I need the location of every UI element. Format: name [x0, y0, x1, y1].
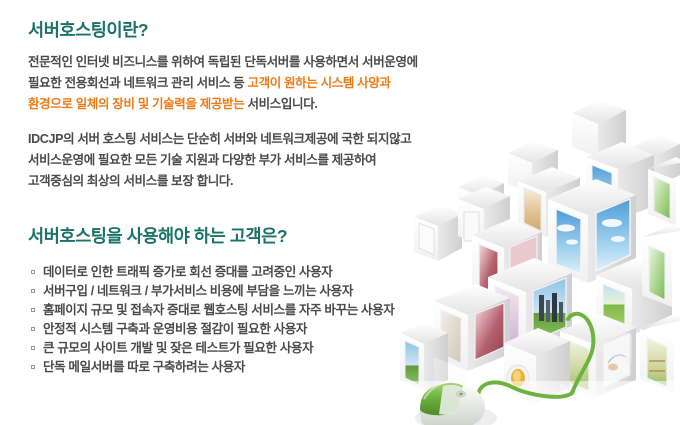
paragraph-line: 서비스운영에 필요한 모든 기술 지원과 다양한 부가 서비스를 제공하여: [28, 150, 411, 171]
paragraph-text: 서비스입니다.: [244, 97, 317, 111]
list-item: 서버구입 / 네트워크 / 부가서비스 비용에 부담을 느끼는 사용자: [30, 282, 394, 301]
paragraph-line: 전문적인 인터넷 비즈니스를 위하여 독립된 단독서버를 사용하면서 서버운영에: [28, 52, 418, 73]
target-customer-list: 데이터로 인한 트래픽 증가로 회선 증대를 고려중인 사용자 서버구입 / 네…: [30, 263, 394, 377]
square-bullet-icon: [31, 270, 35, 274]
square-bullet-icon: [31, 289, 35, 293]
list-item-label: 큰 규모의 사이트 개발 및 잦은 테스트가 필요한 사용자: [43, 341, 313, 355]
list-item-label: 서버구입 / 네트워크 / 부가서비스 비용에 부담을 느끼는 사용자: [43, 284, 353, 298]
paragraph-line: 고객중심의 최상의 서비스를 보장 합니다.: [28, 171, 411, 192]
list-item-label: 데이터로 인한 트래픽 증가로 회선 증대를 고려중인 사용자: [43, 265, 332, 279]
square-bullet-icon: [31, 346, 35, 350]
cube-wall-with-mouse-illustration: [400, 95, 680, 425]
page-root: 서버호스팅이란? 전문적인 인터넷 비즈니스를 위하여 독립된 단독서버를 사용…: [0, 0, 680, 425]
list-item: 홈페이지 규모 및 접속자 증대로 웹호스팅 서비스를 자주 바꾸는 사용자: [30, 301, 394, 320]
square-bullet-icon: [31, 327, 35, 331]
list-item-label: 홈페이지 규모 및 접속자 증대로 웹호스팅 서비스를 자주 바꾸는 사용자: [43, 303, 394, 317]
page-title-target-customers: 서버호스팅을 사용해야 하는 고객은?: [28, 226, 287, 247]
square-bullet-icon: [31, 365, 35, 369]
highlight-text: 고객이 원하는 시스템 사양과: [247, 76, 390, 90]
list-item-label: 단독 메일서버를 따로 구축하려는 사용자: [43, 360, 245, 374]
list-item-label: 안정적 시스템 구축과 운영비용 절감이 필요한 사용자: [43, 322, 307, 336]
list-item: 데이터로 인한 트래픽 증가로 회선 증대를 고려중인 사용자: [30, 263, 394, 282]
paragraph-line: IDCJP의 서버 호스팅 서비스는 단순히 서버와 네트워크제공에 국한 되지…: [28, 129, 411, 150]
paragraph-line: 환경으로 일체의 장비 및 기술력을 제공받는 서비스입니다.: [28, 94, 418, 115]
list-item: 단독 메일서버를 따로 구축하려는 사용자: [30, 358, 394, 377]
paragraph-line: 필요한 전용회선과 네트워크 관리 서비스 등 고객이 원하는 시스템 사양과: [28, 73, 418, 94]
paragraph-text: 필요한 전용회선과 네트워크 관리 서비스 등: [28, 76, 247, 90]
page-title-hosting-definition: 서버호스팅이란?: [28, 20, 148, 41]
list-item: 안정적 시스템 구축과 운영비용 절감이 필요한 사용자: [30, 320, 394, 339]
highlight-text: 환경으로 일체의 장비 및 기술력을 제공받는: [28, 97, 244, 111]
paragraph-hosting-definition: 전문적인 인터넷 비즈니스를 위하여 독립된 단독서버를 사용하면서 서버운영에…: [28, 52, 418, 115]
list-item: 큰 규모의 사이트 개발 및 잦은 테스트가 필요한 사용자: [30, 339, 394, 358]
square-bullet-icon: [31, 308, 35, 312]
paragraph-idcjp-service: IDCJP의 서버 호스팅 서비스는 단순히 서버와 네트워크제공에 국한 되지…: [28, 129, 411, 192]
